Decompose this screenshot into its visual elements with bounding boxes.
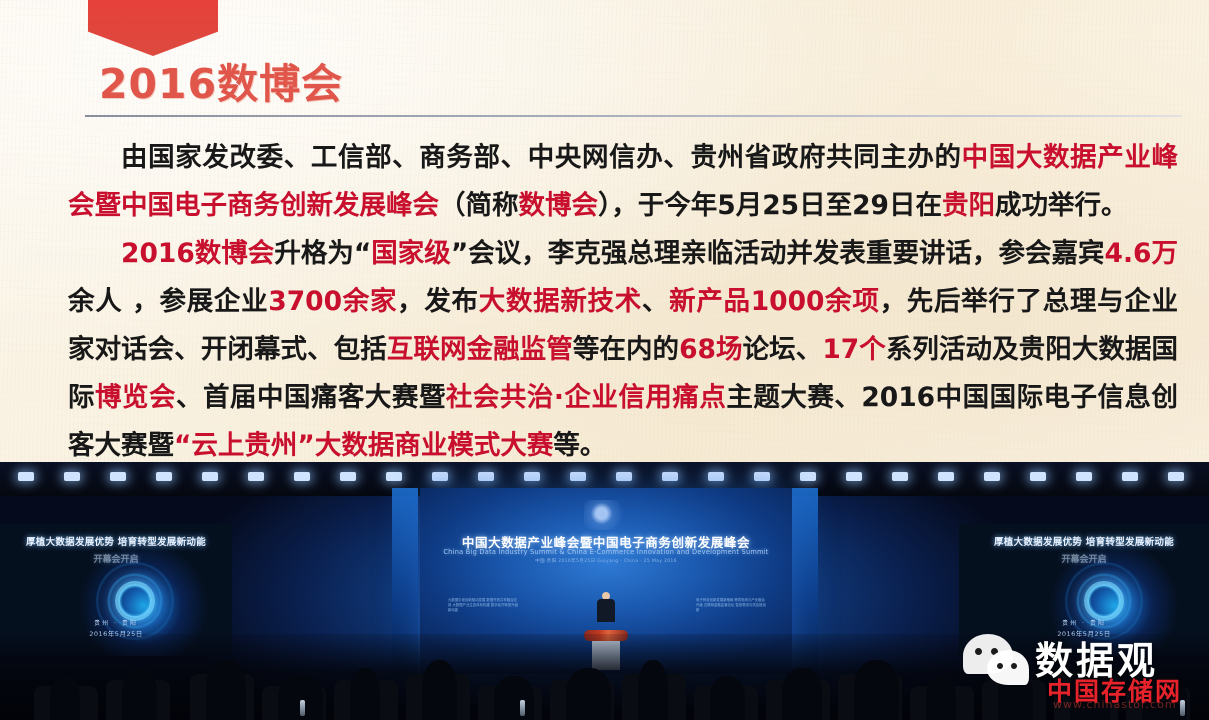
ceiling-lamp-icon [1168,472,1184,481]
highlighted-run: “云上贵州”大数据商业模式大赛 [174,430,553,461]
ceiling-lamp-icon [432,472,448,481]
ceiling-lamp-icon [846,472,862,481]
highlighted-run: 博览会 [95,382,176,413]
paragraph-1: 由国家发改委、工信部、商务部、中央网信办、贵州省政府共同主办的中国大数据产业峰会… [68,134,1178,230]
audience-head [926,676,956,720]
water-bottle [520,700,525,716]
ceiling-lamp-icon [892,472,908,481]
highlighted-run: 新产品1000余项 [669,286,879,317]
highlighted-run: 17个 [822,334,886,365]
ceiling-lamp-icon [478,472,494,481]
text-run: 升格为“ [274,238,371,269]
ceiling-lamp-icon [708,472,724,481]
watermark: 数据观 中国存储网 www.chinastor.com [961,628,1201,714]
audience-head [638,660,668,720]
audience-head [782,668,822,720]
highlighted-run: 数博会 [519,190,599,221]
summit-logo-icon [584,500,628,530]
wechat-bubbles-icon [961,634,1033,690]
ceiling-lamp-icon [386,472,402,481]
audience-head [50,676,80,720]
text-run: 成功举行。 [995,190,1128,221]
highlighted-run: 68场 [679,334,743,365]
ceiling-lamp-icon [64,472,80,481]
ceiling-lamp-icon [156,472,172,481]
text-run: ），于今年5月25日至29日在 [598,190,942,221]
title-divider [85,115,1182,117]
ceiling-lamp-icon [662,472,678,481]
text-run: 等。 [553,430,606,461]
ceiling-lamp-icon [248,472,264,481]
audience-head [122,668,157,720]
text-run: 由国家发改委、工信部、商务部、中央网信办、贵州省政府共同主办的 [121,142,962,173]
screen-left-column: 大数据引领创新驱动发展 数据开放共享融合应用 大数据产业生态体系构建 数字经济转… [448,598,520,613]
highlighted-run: 社会共治·企业信用痛点 [446,382,726,413]
highlighted-run: 3700余家 [268,286,397,317]
audience-head [206,660,246,720]
right-banner-title: 厚植大数据发展优势 培育转型发展新动能 [959,534,1209,548]
ceiling-lamp-icon [616,472,632,481]
right-banner-place: 贵州 · 贵阳 [959,618,1209,627]
audience-head [566,668,611,720]
ceiling-lamp-icon [110,472,126,481]
page-title: 2016数博会 [99,60,343,108]
ceiling-lamp-icon [1076,472,1092,481]
left-banner-place: 贵州 · 贵阳 [0,618,232,627]
left-banner-core-graphic [115,581,155,621]
highlighted-run: 大数据新技术 [479,286,642,317]
ceiling-lamp-icon [18,472,34,481]
text-run: 余人 ，参展企业 [68,286,268,317]
ceiling-lamp-icon [1122,472,1138,481]
audience-head [350,668,380,720]
highlighted-run: 4.6万 [1105,238,1178,269]
screen-title-en: China Big Data Industry Summit & China E… [420,548,792,556]
highlighted-run: 2016数博会 [121,238,274,269]
ceiling-lamp-icon [294,472,310,481]
ceiling-lamp-icon [202,472,218,481]
ceiling-lamp-icon [340,472,356,481]
text-run: 论坛、 [743,334,823,365]
right-banner-core-graphic [1084,581,1124,621]
slide-canvas: 2016数博会 由国家发改委、工信部、商务部、中央网信办、贵州省政府共同主办的中… [0,0,1209,720]
watermark-url: www.chinastor.com [1053,698,1177,711]
highlighted-run: 贵阳 [942,190,995,221]
ceiling-lamp-icon [938,472,954,481]
conference-photo: 厚植大数据发展优势 培育转型发展新动能 开幕会开启 贵州 · 贵阳 2016年5… [0,462,1209,720]
left-banner-title: 厚植大数据发展优势 培育转型发展新动能 [0,534,232,548]
highlighted-run: 国家级 [371,238,451,269]
left-banner-subtitle: 开幕会开启 [0,552,232,565]
audience-head [494,676,534,720]
ceiling-lamp-icon [570,472,586,481]
ceiling-lamp-icon [524,472,540,481]
audience-head [710,676,745,720]
article-body: 由国家发改委、工信部、商务部、中央网信办、贵州省政府共同主办的中国大数据产业峰会… [68,134,1178,470]
text-run: 、首届中国痛客大赛暨 [176,382,446,413]
text-run: （简称 [439,190,519,221]
text-run: ，发布 [397,286,479,317]
ceiling-lamp-icon [984,472,1000,481]
right-banner-subtitle: 开幕会开启 [959,552,1209,565]
text-run: 等在内的 [573,334,679,365]
water-bottle [300,700,305,716]
audience-head [422,660,457,720]
highlighted-run: 互联网金融监管 [387,334,573,365]
screen-subtitle-line: 中国·贵阳 2016年5月25日 Guiyang · China · 25 Ma… [420,558,792,564]
ceiling-lamp-icon [800,472,816,481]
paragraph-2: 2016数博会升格为“国家级”会议，李克强总理亲临活动并发表重要讲话，参会嘉宾4… [68,230,1178,470]
audience-head [854,660,899,720]
ceiling-lamp-icon [754,472,770,481]
screen-right-column: 电子商务创新发展新格局 跨境电商与产业融合升级 互联网金融监管论坛 智慧物流与供… [696,598,768,613]
text-run: 、 [642,286,669,317]
text-run: ”会议，李克强总理亲临活动并发表重要讲话，参会嘉宾 [451,238,1105,269]
ceiling-lamp-icon [1030,472,1046,481]
